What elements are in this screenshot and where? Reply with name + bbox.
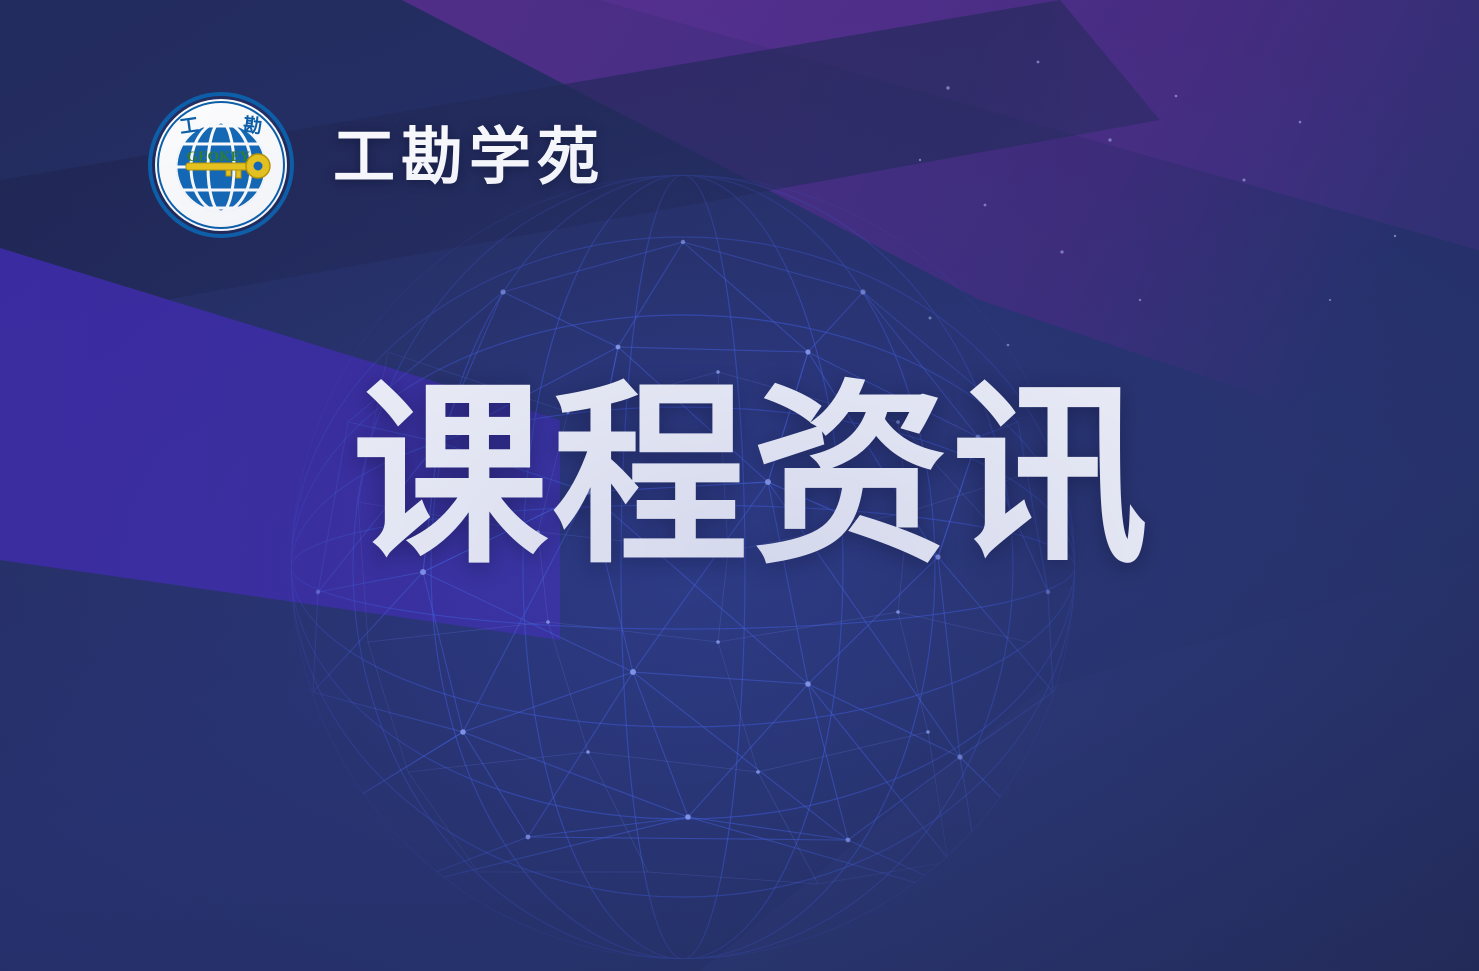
brand-name: 工勘学苑 [333, 122, 605, 192]
logo-wordmark: GEOKEY [187, 150, 251, 165]
cover-banner: GEOKEY 工 勘 工勘学苑 课程资讯 [0, 0, 1479, 971]
logo-mark-kan: 勘 [242, 113, 263, 138]
logo-mark-gong: 工 [178, 114, 200, 138]
geokey-globe-logo-icon: GEOKEY 工 勘 [148, 92, 294, 238]
page-title: 课程资讯 [352, 372, 1152, 582]
